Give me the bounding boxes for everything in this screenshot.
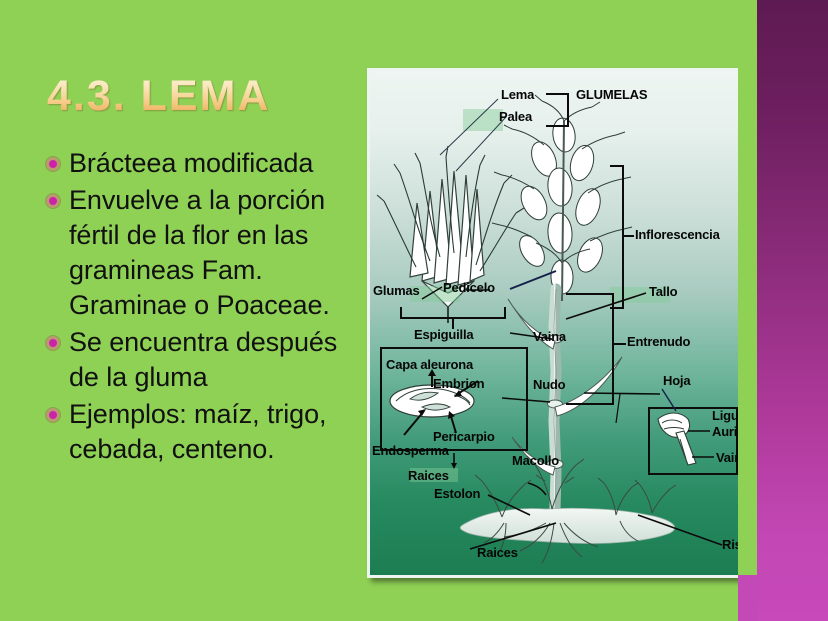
bullet-dot-icon bbox=[46, 408, 60, 422]
label-raices-bottom: Raices bbox=[477, 545, 518, 560]
label-pericarpio: Pericarpio bbox=[433, 429, 495, 444]
label-palea: Palea bbox=[499, 109, 532, 124]
band-magenta-foot bbox=[738, 575, 757, 621]
label-capa-aleurona: Capa aleurona bbox=[386, 357, 473, 372]
label-nudo: Nudo bbox=[533, 377, 565, 392]
bullet-text: Envuelve a la porción fértil de la flor … bbox=[69, 183, 346, 323]
label-tallo: Tallo bbox=[649, 284, 677, 299]
list-item: Envuelve a la porción fértil de la flor … bbox=[46, 183, 346, 323]
title-text: 4.3. LEMA bbox=[47, 72, 271, 121]
bullet-dot-icon bbox=[46, 157, 60, 171]
label-raices-inset: Raices bbox=[408, 468, 449, 483]
label-inflorescencia: Inflorescencia bbox=[635, 227, 720, 242]
label-entrenudo: Entrenudo bbox=[627, 334, 690, 349]
label-endosperma: Endosperma bbox=[372, 443, 449, 458]
list-item: Brácteea modificada bbox=[46, 146, 346, 181]
label-lema: Lema bbox=[501, 87, 534, 102]
label-glumelas: GLUMELAS bbox=[576, 87, 647, 102]
bullet-text: Se encuentra después de la gluma bbox=[69, 325, 346, 395]
label-vaina: Vaina bbox=[533, 329, 566, 344]
bullet-dot-icon bbox=[46, 336, 60, 350]
right-decorative-band bbox=[738, 0, 828, 621]
label-pedicelo: Pedicelo bbox=[443, 280, 495, 295]
label-glumas: Glumas bbox=[373, 283, 419, 298]
label-macollo: Macollo bbox=[512, 453, 559, 468]
bullet-text: Brácteea modificada bbox=[69, 146, 313, 181]
list-item: Ejemplos: maíz, trigo, cebada, centeno. bbox=[46, 397, 346, 467]
grass-anatomy-diagram: Lema Palea GLUMELAS Inflorescencia Gluma… bbox=[367, 68, 742, 578]
label-espiguilla: Espiguilla bbox=[414, 327, 473, 342]
label-embrion: Embrion bbox=[433, 376, 484, 391]
label-hoja: Hoja bbox=[663, 373, 690, 388]
bullet-dot-icon bbox=[46, 194, 60, 208]
label-estolon: Estolon bbox=[434, 486, 480, 501]
bullet-list: Brácteea modificada Envuelve a la porció… bbox=[46, 146, 346, 469]
list-item: Se encuentra después de la gluma bbox=[46, 325, 346, 395]
bullet-text: Ejemplos: maíz, trigo, cebada, centeno. bbox=[69, 397, 346, 467]
band-green-strip bbox=[738, 0, 757, 575]
macollo-leader bbox=[370, 71, 739, 575]
